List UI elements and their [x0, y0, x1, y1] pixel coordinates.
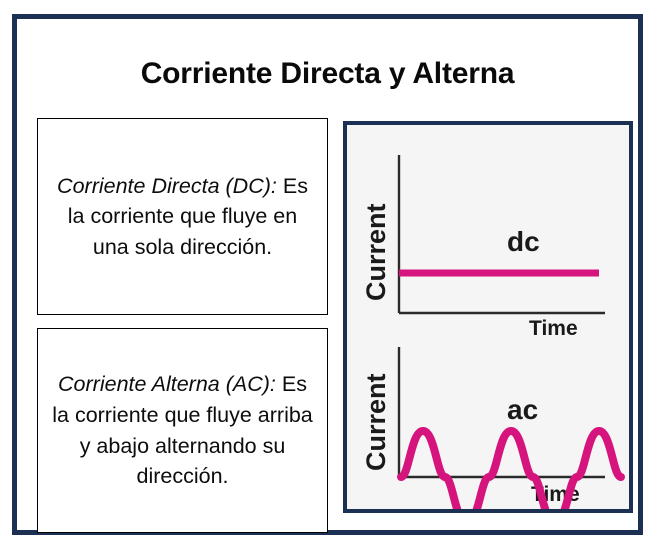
definition-box-dc-text: Corriente Directa (DC): Es la corriente …	[50, 171, 315, 263]
dc-chart-annotation: dc	[507, 226, 540, 257]
dc-chart-x-axis-label: Time	[529, 317, 578, 340]
waveform-illustration-panel: Current Time dc Current Time ac	[343, 121, 633, 513]
definition-box-dc: Corriente Directa (DC): Es la corriente …	[37, 118, 328, 315]
definition-term-dc: Corriente Directa (DC):	[57, 174, 277, 198]
ac-chart-annotation: ac	[507, 394, 538, 425]
waveform-figure: Current Time dc Current Time ac	[347, 125, 629, 509]
ac-chart: Current Time ac	[361, 347, 621, 509]
definition-term-ac: Corriente Alterna (AC):	[58, 372, 276, 396]
page-title: Corriente Directa y Alterna	[17, 57, 638, 91]
ac-chart-y-axis-label: Current	[361, 373, 391, 471]
dc-chart: Current Time dc	[361, 155, 605, 340]
slide-frame: Corriente Directa y Alterna Corriente Di…	[12, 14, 643, 535]
ac-waveform-sine	[401, 431, 621, 509]
dc-chart-y-axis-label: Current	[361, 203, 391, 301]
definition-box-ac: Corriente Alterna (AC): Es la corriente …	[37, 328, 328, 533]
definition-box-ac-text: Corriente Alterna (AC): Es la corriente …	[50, 369, 315, 491]
